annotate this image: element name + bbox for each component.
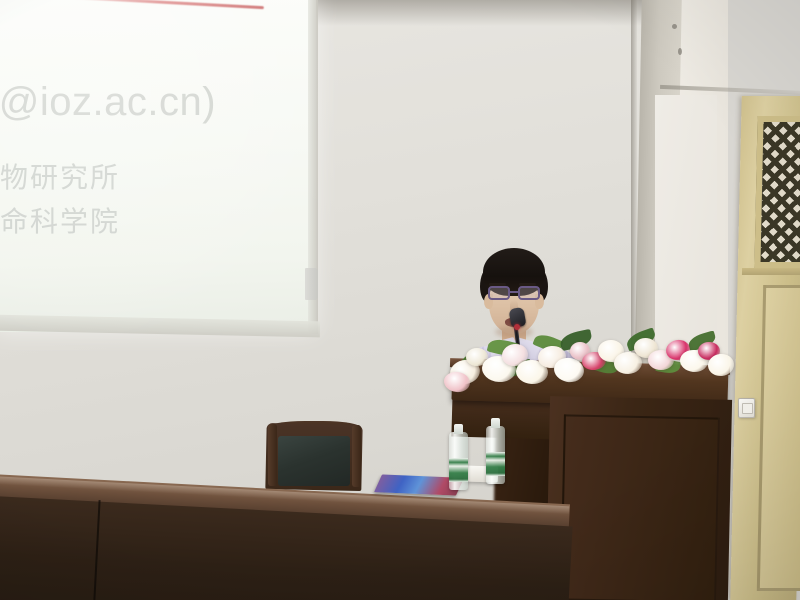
flower-bloom [707,353,735,378]
projection-screen: q@ioz.ac.cn) 动物研究所 生命科学院 [0,0,316,332]
bottle-label [486,452,505,476]
wall-scuff-mark [672,24,677,29]
bottle-label [449,458,468,482]
glasses-bridge [510,291,518,293]
lens-left [488,286,510,300]
chair-backrest-pad [278,436,350,486]
door-mullion [742,268,800,275]
ceiling-shadow [300,0,660,26]
eyeglasses-icon [486,286,542,300]
slide-accent-rule [34,0,264,9]
slide-surface: q@ioz.ac.cn) 动物研究所 生命科学院 [0,0,316,332]
door-transom-window [754,116,800,268]
water-bottle[interactable] [449,432,468,490]
photo-scene: q@ioz.ac.cn) 动物研究所 生命科学院 [0,0,800,600]
slide-institute-line: 动物研究所 [0,156,120,196]
screen-side-tab [305,268,318,300]
podium-body-inset [560,414,720,600]
wall-scuff-mark [678,48,682,55]
lens-right [518,286,540,300]
light-switch[interactable] [738,398,755,418]
water-bottle[interactable] [486,426,505,484]
chair-post-right [352,425,361,487]
chair-post-left [268,424,277,486]
flower-arrangement [442,326,738,404]
door-panel [757,285,800,591]
lattice-grille-icon [761,122,800,262]
slide-email-text: q@ioz.ac.cn) [0,80,216,125]
slide-college-line: 生命科学院 [0,200,120,240]
